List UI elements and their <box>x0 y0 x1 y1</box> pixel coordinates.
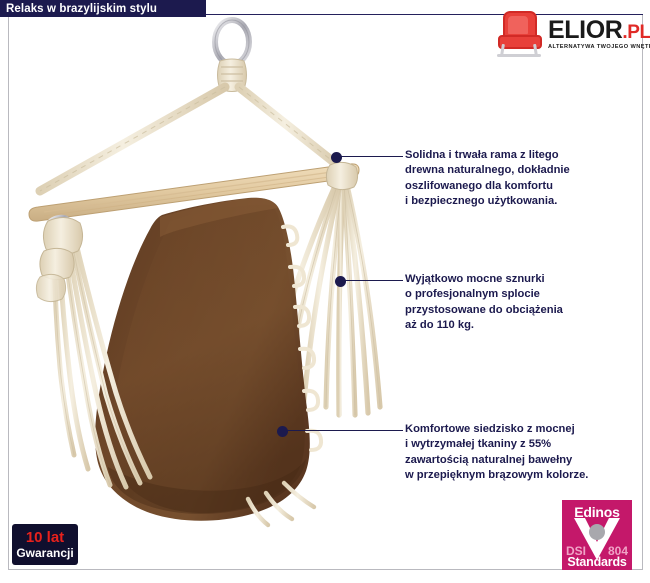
right-fan-knot <box>326 162 357 189</box>
frame-left-border <box>8 14 9 570</box>
callout-line-seat <box>287 430 403 431</box>
chair-back-inner-shape <box>508 16 528 34</box>
callout-dot-ropes <box>335 276 346 287</box>
page-title-banner: Relaks w brazylijskim stylu <box>0 0 206 17</box>
warranty-label: Gwarancji <box>16 546 73 560</box>
warranty-years: 10 lat <box>26 530 64 546</box>
edinos-certification-badge: Edinos DSI 804 Standards <box>562 500 632 570</box>
brand-tld: .PL <box>622 22 650 43</box>
frame-bottom-border <box>8 569 643 570</box>
callout-dot-frame <box>331 152 342 163</box>
warranty-badge: 10 lat Gwarancji <box>12 524 78 565</box>
callout-frame-text: Solidna i trwała rama z litego drewna na… <box>405 148 643 210</box>
page-title: Relaks w brazylijskim stylu <box>6 3 157 15</box>
product-image-hanging-chair <box>10 15 400 565</box>
brand-tagline: ALTERNATYWA TWOJEGO WNĘTRZA <box>548 45 650 51</box>
edinos-standards-label: Standards <box>562 555 632 569</box>
brand-name: ELIOR <box>548 16 622 44</box>
callout-ropes-text: Wyjątkowo mocne sznurki o profesjonalnym… <box>405 272 643 334</box>
callout-line-frame <box>341 156 403 157</box>
brand-logo-text: ELIOR.PL ALTERNATYWA TWOJEGO WNĘTRZA <box>548 18 650 51</box>
brand-logo: ELIOR.PL ALTERNATYWA TWOJEGO WNĘTRZA <box>492 8 644 60</box>
chair-rail <box>497 54 541 57</box>
red-chair-icon <box>492 9 546 59</box>
callout-line-ropes <box>345 280 403 281</box>
product-infographic: Relaks w brazylijskim stylu ELIOR.PL ALT… <box>0 0 650 583</box>
callout-seat-text: Komfortowe siedzisko z mocnej i wytrzyma… <box>405 422 643 484</box>
callout-dot-seat <box>277 426 288 437</box>
brand-wordmark: ELIOR.PL <box>548 18 650 43</box>
hanging-ring <box>215 20 249 64</box>
